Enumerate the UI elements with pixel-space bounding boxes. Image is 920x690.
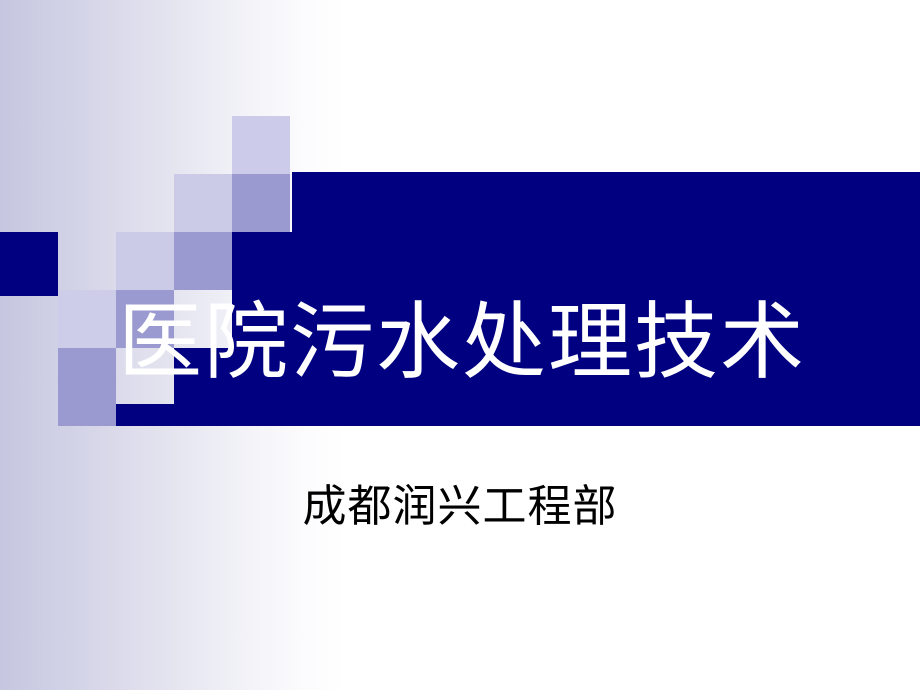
navy-band-foot	[116, 404, 920, 426]
square-r2c4-medium	[232, 174, 290, 232]
square-r5c1-medium	[58, 348, 116, 426]
slide-subtitle: 成都润兴工程部	[0, 478, 920, 536]
main-navy-band-upper	[292, 172, 920, 234]
square-r4c1-light	[58, 290, 116, 348]
square-r1c4-light	[232, 116, 290, 174]
left-navy-square	[0, 232, 58, 296]
square-r3c2-light	[116, 232, 174, 290]
title-slide: 医院污水处理技术 成都润兴工程部	[0, 0, 920, 690]
slide-title: 医院污水处理技术	[118, 296, 908, 392]
square-r2c3-light	[174, 174, 232, 232]
square-r3c3-medium	[174, 232, 232, 290]
